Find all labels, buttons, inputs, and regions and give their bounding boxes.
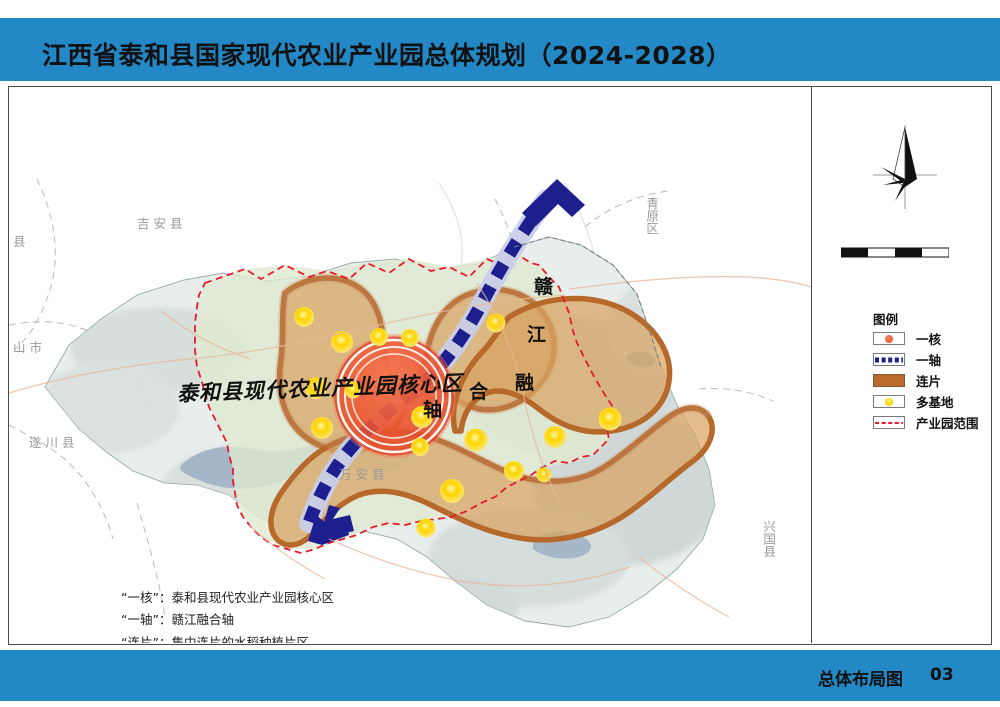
map-canvas[interactable]: 泰和县现代农业产业园核心区 赣 江 融 合 轴 吉安县 县 山市 遂川县 万安县… <box>9 87 811 643</box>
legend-item-axis[interactable]: 一轴 <box>873 350 992 369</box>
axis-label-char-3: 合 <box>469 377 488 404</box>
map-page: 江西省泰和县国家现代农业产业园总体规划（2024-2028） <box>0 0 1000 707</box>
note-line-2: “连片”：集中连片的水稻种植片区 <box>121 632 409 644</box>
neighbor-label-jian: 吉安县 <box>137 213 187 232</box>
scale-bar-icon <box>841 247 949 259</box>
legend-label-base: 多基地 <box>916 392 954 411</box>
red-dashed-line-icon <box>873 416 905 429</box>
footer-page-number: 03 <box>930 665 954 685</box>
legend-label-boundary: 产业园范围 <box>916 413 979 432</box>
note-line-0: “一核”：泰和县现代农业产业园核心区 <box>121 587 409 609</box>
map-notes: “一核”：泰和县现代农业产业园核心区 “一轴”：赣江融合轴 “连片”：集中连片的… <box>121 587 409 643</box>
legend-item-base[interactable]: 多基地 <box>873 392 992 411</box>
legend-panel: 图例 一核 一轴 连片 <box>821 87 992 643</box>
panel-divider <box>811 87 812 643</box>
axis-label-char-1: 江 <box>527 320 546 347</box>
neighbor-label-suichuan: 遂川县 <box>29 432 79 451</box>
footer-title: 总体布局图 <box>818 665 903 690</box>
note-line-1: “一轴”：赣江融合轴 <box>121 609 409 631</box>
brown-fill-icon <box>873 374 905 387</box>
north-arrow-icon <box>865 123 945 213</box>
legend-label-axis: 一轴 <box>916 350 941 369</box>
axis-label-char-2: 融 <box>515 368 534 395</box>
map-frame: 泰和县现代农业产业园核心区 赣 江 融 合 轴 吉安县 县 山市 遂川县 万安县… <box>8 86 992 645</box>
yellow-dot-icon <box>873 395 905 408</box>
legend-item-core[interactable]: 一核 <box>873 329 992 348</box>
neighbor-label-qingyuan: 青原区 <box>642 197 660 235</box>
blue-dashed-line-icon <box>873 353 905 366</box>
core-dot-icon <box>873 332 905 345</box>
neighbor-label-wanan: 万安县 <box>339 464 389 483</box>
page-title: 江西省泰和县国家现代农业产业园总体规划（2024-2028） <box>42 36 732 72</box>
legend-title: 图例 <box>873 309 898 328</box>
legend-label-core: 一核 <box>916 329 941 348</box>
map-graphics <box>9 87 811 643</box>
legend-list: 一核 一轴 连片 多基地 <box>873 329 992 434</box>
neighbor-label-partial: 县 <box>13 231 30 250</box>
legend-label-lianpian: 连片 <box>916 371 941 390</box>
neighbor-label-xingguo: 兴国县 <box>759 520 777 558</box>
axis-label-char-4: 轴 <box>423 395 442 422</box>
neighbor-label-jinggangshan: 山市 <box>13 337 46 356</box>
axis-label-char-0: 赣 <box>534 272 553 299</box>
legend-item-lianpian[interactable]: 连片 <box>873 371 992 390</box>
legend-item-boundary[interactable]: 产业园范围 <box>873 413 992 432</box>
